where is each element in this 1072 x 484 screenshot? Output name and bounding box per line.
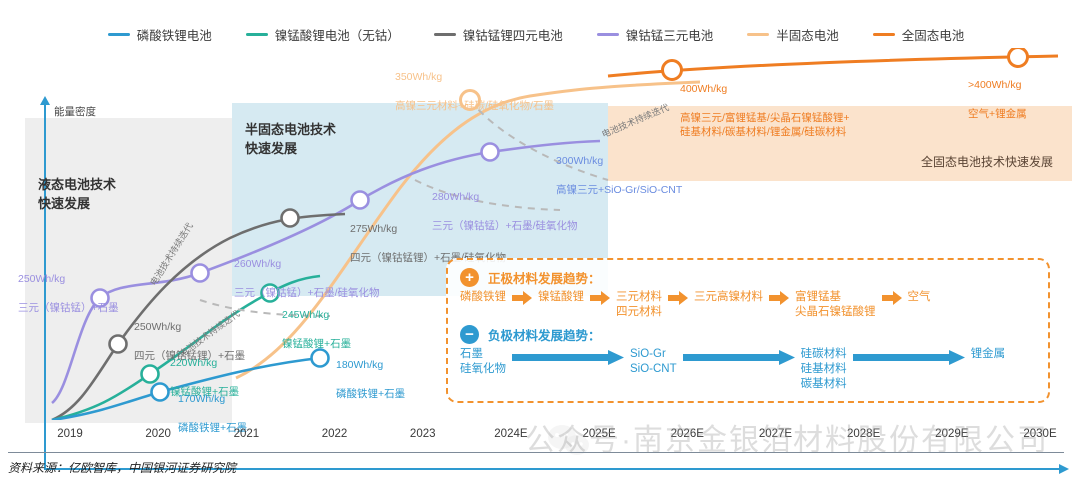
x-tick-2020: 2020 bbox=[145, 428, 171, 440]
legend-item-ncm[interactable]: 镍钴锰三元电池 bbox=[597, 25, 714, 44]
legend-item-all-solid[interactable]: 全固态电池 bbox=[873, 25, 965, 44]
arrow-right-icon bbox=[590, 291, 610, 305]
legend-swatch-lfp bbox=[108, 33, 130, 36]
x-axis-ticks: 201920202021202220232024E2025E2026E2027E… bbox=[0, 428, 1072, 448]
y-axis-label: 能量密度 bbox=[54, 104, 96, 119]
x-tick-2026E: 2026E bbox=[671, 428, 704, 440]
legend-label-semi-solid: 半固态电池 bbox=[776, 25, 839, 44]
cathode-header: + 正极材料发展趋势： bbox=[460, 268, 1036, 287]
data-label-350-desc: 高镍三元材料+硅碳/硅氧化物/石墨 bbox=[395, 99, 554, 113]
data-label-350-value: 350Wh/kg bbox=[395, 70, 554, 84]
source-note: 资料来源：亿欧智库，中国银河证券研究院 bbox=[8, 459, 236, 476]
legend-label-ncm: 镍钴锰三元电池 bbox=[626, 25, 714, 44]
arrow-right-icon bbox=[512, 291, 532, 305]
anode-row-item-1: SiO-Gr SiO-CNT bbox=[630, 347, 677, 377]
data-label-250-ncma-value: 250Wh/kg bbox=[134, 320, 245, 334]
plus-icon: + bbox=[460, 268, 479, 287]
materials-trend-box: + 正极材料发展趋势： 磷酸铁锂镍锰酸锂三元材料 四元材料三元高镍材料富锂锰基 … bbox=[446, 258, 1050, 403]
x-tick-2022: 2022 bbox=[322, 428, 348, 440]
x-tick-2023: 2023 bbox=[410, 428, 436, 440]
legend-swatch-ncm bbox=[597, 33, 619, 36]
x-tick-2027E: 2027E bbox=[759, 428, 792, 440]
legend-label-all-solid: 全固态电池 bbox=[902, 25, 965, 44]
data-label-245-value: 245Wh/kg bbox=[282, 308, 351, 322]
data-label-gt400: >400Wh/kg 空气+锂金属 bbox=[968, 64, 1027, 135]
data-label-250-ncm-desc: 三元（镍钴锰）+石墨 bbox=[18, 301, 119, 315]
legend-item-semi-solid[interactable]: 半固态电池 bbox=[747, 25, 839, 44]
chart-legend: 磷酸铁锂电池镍锰酸锂电池（无钴）镍钴锰锂四元电池镍钴锰三元电池半固态电池全固态电… bbox=[0, 22, 1072, 46]
arrow-right-long-icon bbox=[512, 350, 624, 365]
anode-title: 负极材料发展趋势： bbox=[488, 325, 601, 344]
data-label-170-value: 170Wh/kg bbox=[178, 392, 247, 406]
data-label-280-value: 280Wh/kg bbox=[432, 190, 578, 204]
cathode-row-item-0: 磷酸铁锂 bbox=[460, 290, 506, 305]
data-label-220-value: 220Wh/kg bbox=[170, 356, 239, 370]
cathode-row-item-4: 富锂锰基 尖晶石镍锰酸锂 bbox=[795, 290, 876, 320]
anode-row-item-2: 硅碳材料 硅基材料 碳基材料 bbox=[801, 347, 847, 392]
legend-swatch-semi-solid bbox=[747, 33, 769, 36]
data-label-gt400-desc: 空气+锂金属 bbox=[968, 107, 1027, 121]
data-label-350: 350Wh/kg 高镍三元材料+硅碳/硅氧化物/石墨 bbox=[395, 56, 554, 127]
data-label-250-ncm: 250Wh/kg 三元（镍钴锰）+石墨 bbox=[18, 258, 119, 329]
x-tick-2030E: 2030E bbox=[1023, 428, 1056, 440]
data-label-250-ncm-value: 250Wh/kg bbox=[18, 272, 119, 286]
cathode-row-item-3: 三元高镍材料 bbox=[694, 290, 763, 305]
cathode-row-item-1: 镍锰酸锂 bbox=[538, 290, 584, 305]
arrow-right-long-icon bbox=[683, 350, 795, 365]
legend-swatch-lnmo bbox=[246, 33, 268, 36]
minus-icon: − bbox=[460, 325, 479, 344]
data-label-180-desc: 磷酸铁锂+石墨 bbox=[336, 387, 405, 401]
x-tick-2021: 2021 bbox=[234, 428, 260, 440]
data-label-400-desc: 高镍三元/富锂锰基/尖晶石镍锰酸锂+ 硅基材料/碳基材料/锂金属/硅碳材料 bbox=[680, 111, 849, 139]
legend-swatch-ncma bbox=[434, 33, 456, 36]
legend-item-lnmo[interactable]: 镍锰酸锂电池（无钴） bbox=[246, 25, 400, 44]
data-label-180-value: 180Wh/kg bbox=[336, 358, 405, 372]
anode-steps: 石墨 硅氧化物SiO-Gr SiO-CNT硅碳材料 硅基材料 碳基材料锂金属 bbox=[460, 347, 1036, 392]
zone-caption-allsolid: 全固态电池技术快速发展 bbox=[921, 154, 1053, 171]
zone-caption-semisolid: 半固态电池技术 快速发展 bbox=[245, 121, 336, 159]
zone-caption-liquid: 液态电池技术 快速发展 bbox=[38, 176, 116, 214]
data-label-400: 400Wh/kg 高镍三元/富锂锰基/尖晶石镍锰酸锂+ 硅基材料/碳基材料/锂金… bbox=[680, 68, 849, 153]
footer-divider bbox=[8, 452, 1064, 453]
legend-label-lfp: 磷酸铁锂电池 bbox=[137, 25, 212, 44]
cathode-row-item-5: 空气 bbox=[908, 290, 931, 305]
cathode-title: 正极材料发展趋势： bbox=[488, 268, 601, 287]
anode-row-item-3: 锂金属 bbox=[971, 347, 1006, 362]
arrow-right-icon bbox=[769, 291, 789, 305]
chart-root: 磷酸铁锂电池镍锰酸锂电池（无钴）镍钴锰锂四元电池镍钴锰三元电池半固态电池全固态电… bbox=[0, 0, 1072, 484]
x-tick-2028E: 2028E bbox=[847, 428, 880, 440]
data-label-400-value: 400Wh/kg bbox=[680, 82, 849, 96]
x-tick-2024E: 2024E bbox=[494, 428, 527, 440]
legend-label-lnmo: 镍锰酸锂电池（无钴） bbox=[275, 25, 400, 44]
legend-item-ncma[interactable]: 镍钴锰锂四元电池 bbox=[434, 25, 563, 44]
arrow-right-icon bbox=[668, 291, 688, 305]
data-label-300-value: 300Wh/kg bbox=[556, 154, 682, 168]
data-label-180: 180Wh/kg 磷酸铁锂+石墨 bbox=[336, 344, 405, 415]
cathode-row-item-2: 三元材料 四元材料 bbox=[616, 290, 662, 320]
anode-row-item-0: 石墨 硅氧化物 bbox=[460, 347, 506, 377]
data-label-gt400-value: >400Wh/kg bbox=[968, 78, 1027, 92]
watermark-logo-icon bbox=[547, 423, 591, 459]
x-tick-2029E: 2029E bbox=[935, 428, 968, 440]
data-label-260-value: 260Wh/kg bbox=[234, 257, 380, 271]
legend-item-lfp[interactable]: 磷酸铁锂电池 bbox=[108, 25, 212, 44]
arrow-right-icon bbox=[882, 291, 902, 305]
x-tick-2019: 2019 bbox=[57, 428, 83, 440]
data-label-275-value: 275Wh/kg bbox=[350, 222, 506, 236]
anode-header: − 负极材料发展趋势： bbox=[460, 325, 1036, 344]
cathode-steps: 磷酸铁锂镍锰酸锂三元材料 四元材料三元高镍材料富锂锰基 尖晶石镍锰酸锂空气 bbox=[460, 290, 1036, 320]
arrow-right-long-icon bbox=[853, 350, 965, 365]
legend-swatch-all-solid bbox=[873, 33, 895, 36]
legend-label-ncma: 镍钴锰锂四元电池 bbox=[463, 25, 563, 44]
